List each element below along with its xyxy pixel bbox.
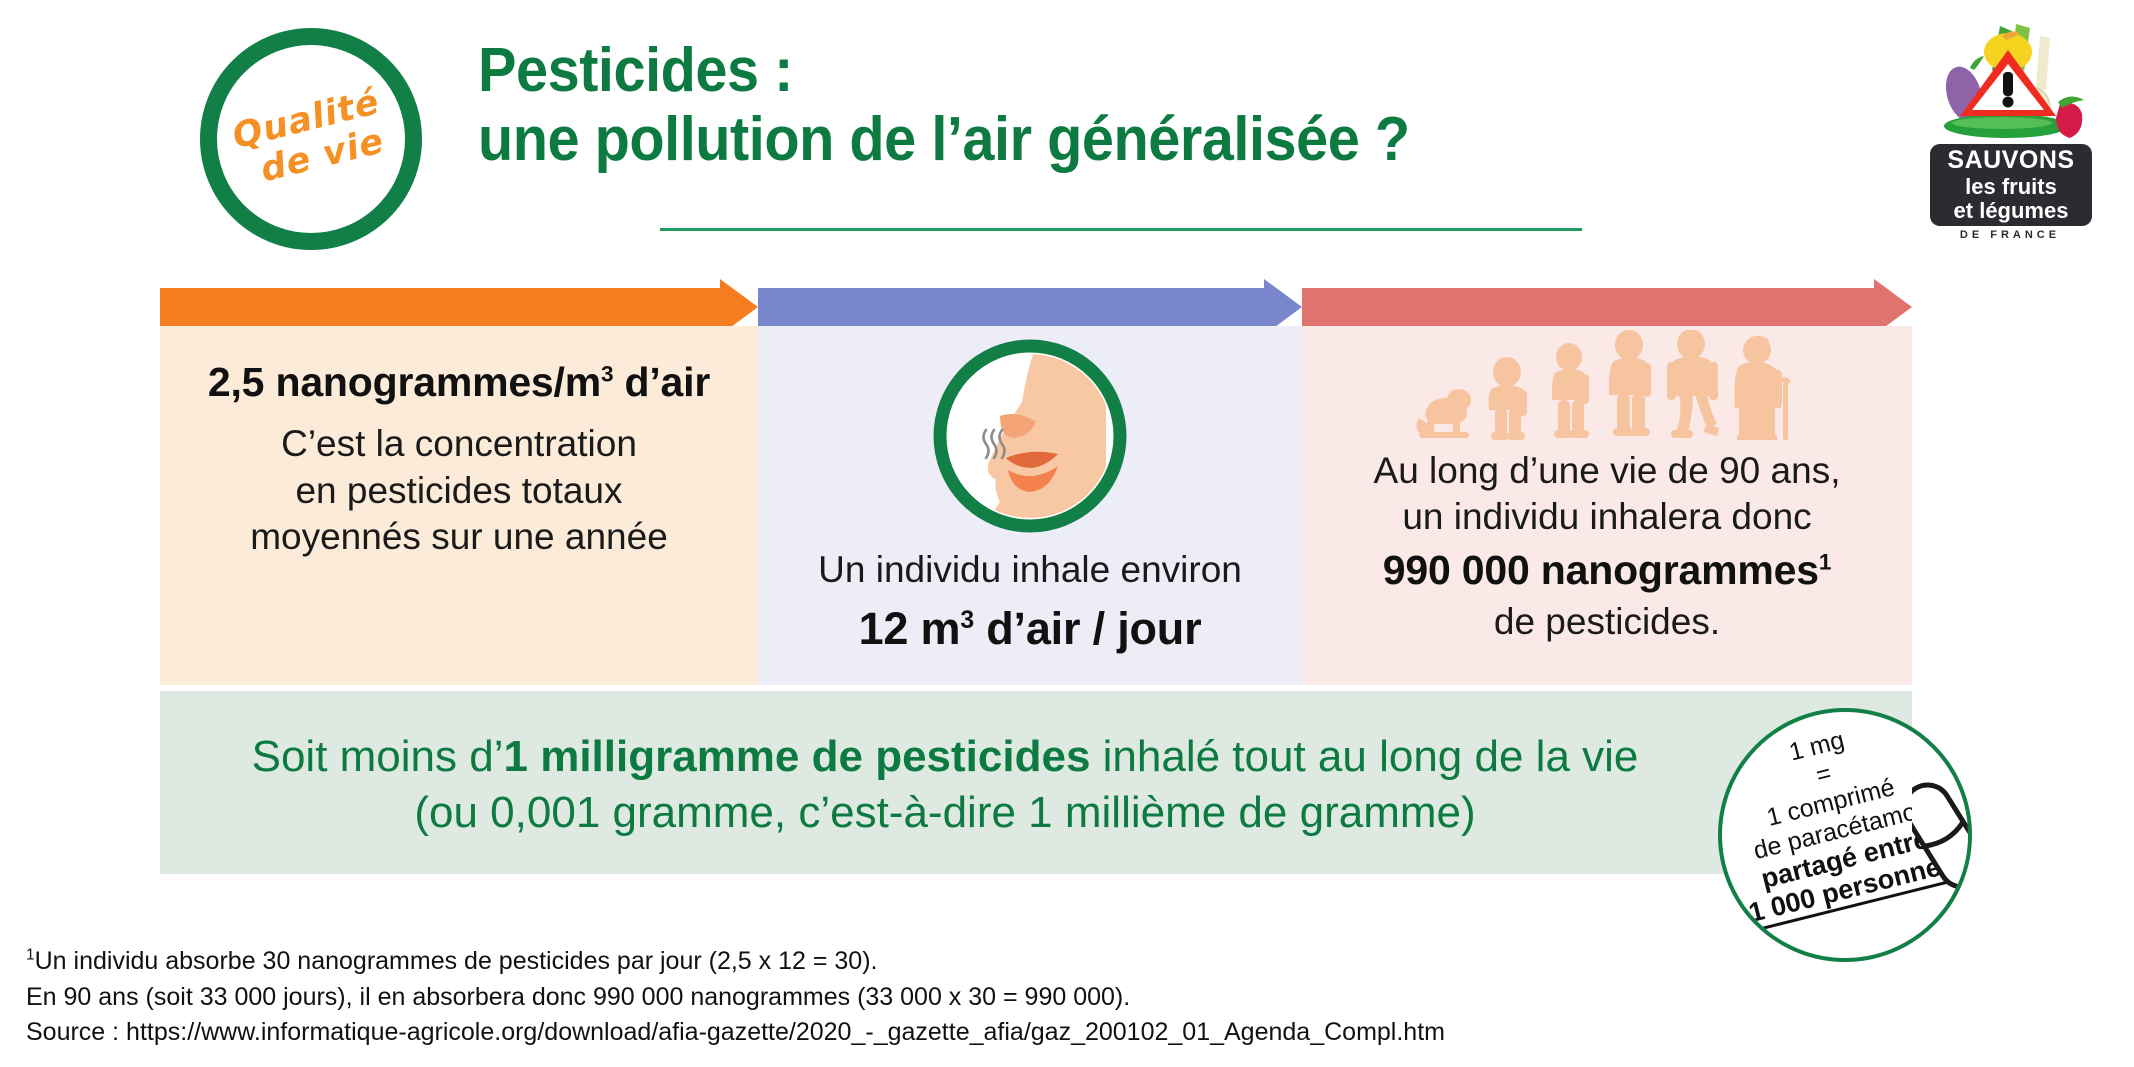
panel-2-body-line-1: Un individu inhale environ	[758, 548, 1302, 592]
panel-1-body: C’est la concentration en pesticides tot…	[160, 421, 758, 561]
orange-arrow	[160, 288, 758, 326]
page-title-line-2: une pollution de l’air généralisée ?	[478, 105, 1780, 174]
panel-1-headline-pre: 2,5 nanogrammes/m	[208, 359, 601, 405]
title-underline-rule	[660, 228, 1582, 231]
panel-lifetime-exposure: Au long d’une vie de 90 ans, un individu…	[1302, 326, 1912, 685]
summary-band: Soit moins d’1 milligramme de pesticides…	[160, 691, 1912, 874]
aging-stages-icon	[1407, 330, 1807, 440]
sauvons-logo-line-1: SAUVONS	[1947, 148, 2074, 173]
sauvons-les-fruits-et-legumes-logo: SAUVONS les fruits et légumes DE FRANCE	[1908, 18, 2112, 248]
panel-1-headline: 2,5 nanogrammes/m3 d’air	[160, 360, 758, 405]
footnote-line-1: 1Un individu absorbe 30 nanogrammes de p…	[26, 944, 1626, 980]
process-arrow-bar	[160, 288, 1912, 326]
sauvons-logo-plaque: SAUVONS les fruits et légumes	[1930, 144, 2092, 226]
panel-3-headline-pre: 990 000 nanogrammes	[1383, 547, 1819, 593]
sauvons-logo-line-3: et légumes	[1954, 200, 2069, 222]
footnotes: 1Un individu absorbe 30 nanogrammes de p…	[26, 944, 1626, 1051]
panel-1-headline-sup: 3	[601, 361, 613, 386]
panel-1-body-line-3: moyennés sur une année	[160, 514, 758, 561]
panel-1-body-line-1: C’est la concentration	[160, 421, 758, 468]
summary-line-1-pre: Soit moins d’	[252, 732, 504, 781]
vegetables-warning-icon	[1908, 18, 2112, 146]
summary-line-1: Soit moins d’1 milligramme de pesticides…	[160, 731, 1730, 783]
panel-3-body-line-3: de pesticides.	[1302, 599, 1912, 645]
capsule-pill-icon	[1912, 776, 1972, 896]
page-title-line-1: Pesticides :	[478, 36, 1780, 105]
footnote-marker: 1	[26, 947, 35, 964]
panel-inhalation: Un individu inhale environ 12 m3 d’air /…	[758, 326, 1302, 685]
footnote-line-2: En 90 ans (soit 33 000 jours), il en abs…	[26, 980, 1626, 1016]
panel-3-body-line-1: Au long d’une vie de 90 ans,	[1302, 448, 1912, 494]
sauvons-logo-line-4: DE FRANCE	[1908, 229, 2112, 241]
panel-3-body-line-2: un individu inhalera donc	[1302, 494, 1912, 540]
page-title: Pesticides : une pollution de l’air géné…	[478, 36, 1878, 175]
blue-arrow	[758, 288, 1302, 326]
qualite-de-vie-logo-text: Qualité de vie	[197, 25, 425, 253]
breathing-face-icon	[930, 336, 1130, 536]
footnote-line-1-text: Un individu absorbe 30 nanogrammes de pe…	[35, 947, 878, 975]
sauvons-logo-line-2: les fruits	[1965, 176, 2057, 198]
summary-line-1-bold: 1 milligramme de pesticides	[504, 732, 1091, 781]
footnote-source: Source : https://www.informatique-agrico…	[26, 1015, 1626, 1051]
panel-2-headline-pre: 12 m	[859, 603, 961, 654]
summary-line-1-post: inhalé tout au long de la vie	[1090, 732, 1638, 781]
panel-1-headline-post: d’air	[613, 359, 710, 405]
panel-concentration: 2,5 nanogrammes/m3 d’air C’est la concen…	[160, 326, 758, 685]
panel-2-headline: 12 m3 d’air / jour	[758, 602, 1302, 656]
qualite-de-vie-logo: Qualité de vie	[200, 28, 422, 250]
panel-1-body-line-2: en pesticides totaux	[160, 468, 758, 515]
infographic-header: Qualité de vie Pesticides : une pollutio…	[0, 0, 2134, 270]
red-arrow	[1302, 288, 1912, 326]
summary-line-2: (ou 0,001 gramme, c’est-à-dire 1 millièm…	[160, 787, 1730, 839]
panel-3-headline: 990 000 nanogrammes1	[1302, 546, 1912, 595]
paracetamol-comparison-badge: 1 mg = 1 comprimé de paracétamol partagé…	[1718, 708, 1972, 962]
panel-2-headline-post: d’air / jour	[974, 603, 1201, 654]
panel-3-headline-sup: 1	[1819, 549, 1831, 574]
panel-2-headline-sup: 3	[960, 607, 974, 634]
